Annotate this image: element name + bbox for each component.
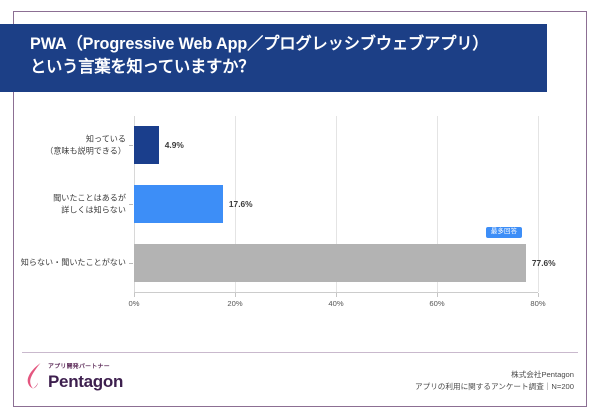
bar-value-label: 17.6% bbox=[229, 199, 253, 209]
survey-note: アプリの利用に関するアンケート調査｜N=200 bbox=[415, 381, 574, 393]
logo-wordmark: Pentagon bbox=[48, 373, 123, 390]
x-tick-label: 60% bbox=[429, 299, 444, 308]
title-banner: PWA（Progressive Web App／プログレッシブウェブアプリ） と… bbox=[0, 24, 547, 92]
x-tick-label: 0% bbox=[129, 299, 140, 308]
x-tick-mark bbox=[336, 293, 337, 297]
bar bbox=[134, 185, 223, 223]
bar-row: 知っている （意味も説明できる）4.9% bbox=[134, 126, 538, 164]
page-title: PWA（Progressive Web App／プログレッシブウェブアプリ） と… bbox=[30, 33, 547, 79]
category-tick bbox=[129, 204, 133, 205]
bar-chart: 知っている （意味も説明できる）4.9%聞いたことはあるが 詳しくは知らない17… bbox=[18, 108, 584, 323]
x-tick-label: 20% bbox=[227, 299, 242, 308]
bar bbox=[134, 244, 526, 282]
logo-tagline: アプリ開発パートナー bbox=[48, 365, 123, 371]
x-tick-mark bbox=[538, 293, 539, 297]
bar-row: 知らない・聞いたことがない77.6% bbox=[134, 244, 538, 282]
category-label: 知らない・聞いたことがない bbox=[16, 257, 126, 269]
x-tick-mark bbox=[235, 293, 236, 297]
x-tick-mark bbox=[437, 293, 438, 297]
bar-value-label: 4.9% bbox=[165, 140, 184, 150]
x-tick-mark bbox=[134, 293, 135, 297]
bar bbox=[134, 126, 159, 164]
category-label: 知っている （意味も説明できる） bbox=[16, 134, 126, 157]
company-name: 株式会社Pentagon bbox=[415, 369, 574, 381]
attribution: 株式会社Pentagon アプリの利用に関するアンケート調査｜N=200 bbox=[415, 369, 574, 393]
swoosh-icon bbox=[26, 362, 44, 390]
footer-divider bbox=[22, 352, 578, 353]
category-label: 聞いたことはあるが 詳しくは知らない bbox=[16, 192, 126, 215]
slide-root: PWA（Progressive Web App／プログレッシブウェブアプリ） と… bbox=[0, 0, 600, 415]
most-answers-badge: 最多回答 bbox=[486, 227, 522, 238]
x-tick-label: 40% bbox=[328, 299, 343, 308]
logo-text: アプリ開発パートナー Pentagon bbox=[48, 365, 123, 390]
plot-area: 知っている （意味も説明できる）4.9%聞いたことはあるが 詳しくは知らない17… bbox=[134, 116, 538, 292]
x-axis-ticks: 0%20%40%60%80% bbox=[134, 293, 538, 313]
bar-rows: 知っている （意味も説明できる）4.9%聞いたことはあるが 詳しくは知らない17… bbox=[134, 116, 538, 292]
bar-row: 聞いたことはあるが 詳しくは知らない17.6% bbox=[134, 185, 538, 223]
category-tick bbox=[129, 145, 133, 146]
pentagon-logo: アプリ開発パートナー Pentagon bbox=[26, 362, 123, 390]
x-tick-label: 80% bbox=[530, 299, 545, 308]
category-tick bbox=[129, 263, 133, 264]
bar-value-label: 77.6% bbox=[532, 258, 556, 268]
